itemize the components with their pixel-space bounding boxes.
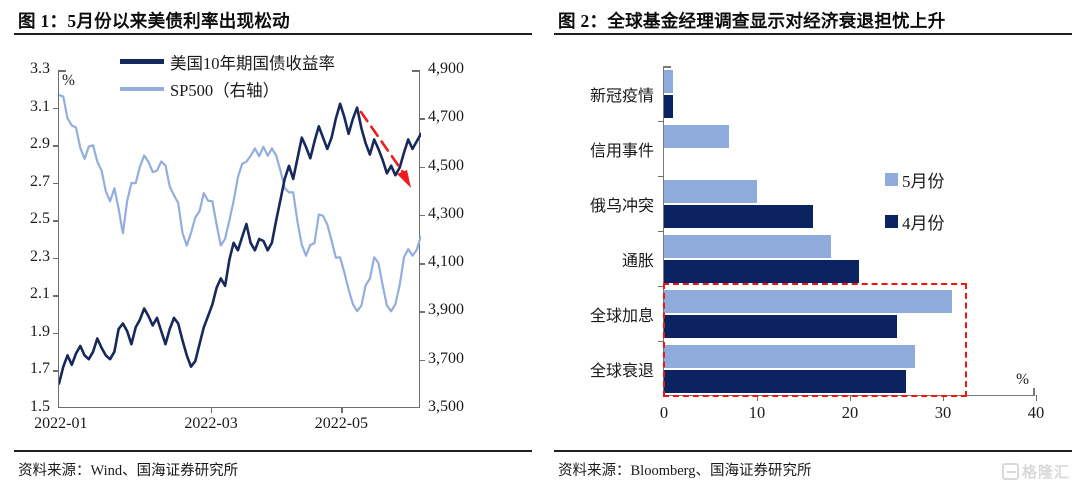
bar-may — [664, 180, 757, 203]
bar-april — [664, 315, 897, 338]
left-axis-tick — [53, 145, 59, 146]
left-axis-tick — [53, 295, 59, 296]
right-axis-tick-label: 4,500 — [428, 157, 464, 175]
bar-april — [664, 205, 813, 228]
bar-april — [664, 260, 859, 283]
figure-2-source-rule — [554, 450, 1072, 452]
bar-x-axis-tick — [757, 395, 758, 401]
figure-1-panel: 图 1：5月份以来美债利率出现松动 美国10年期国债收益率 SP500（右轴） … — [0, 0, 540, 490]
right-axis-tick-label: 4,100 — [428, 253, 464, 271]
figure-2-panel: 图 2：全球基金经理调查显示对经济衰退担忧上升 % 新冠疫情信用事件俄乌冲突通胀… — [540, 0, 1080, 490]
bar-x-axis-tick-label: 0 — [660, 403, 668, 423]
right-axis-tick — [419, 263, 425, 264]
legend-label-may: 5月份 — [902, 167, 945, 192]
right-axis-tick — [419, 118, 425, 119]
figure-2-source: 资料来源：Bloomberg、国海证券研究所 — [558, 459, 811, 480]
bar-group: 新冠疫情 — [664, 66, 1035, 121]
figure-2-title: 图 2：全球基金经理调查显示对经济衰退担忧上升 — [558, 8, 1070, 33]
figure-1-source-rule — [14, 450, 532, 452]
sp500-line — [59, 95, 421, 311]
left-axis-tick-label: 3.3 — [30, 60, 50, 78]
bar-may — [664, 345, 915, 368]
bar-may — [664, 70, 673, 93]
figure-2-title-rule — [554, 33, 1072, 35]
bar-chart: % 新冠疫情信用事件俄乌冲突通胀全球加息全球衰退010203040 5月份 4月… — [540, 40, 1080, 440]
bar-x-axis-tick-label: 20 — [842, 403, 859, 423]
left-axis-tick-label: 1.5 — [30, 398, 50, 416]
bar-category-label: 通胀 — [622, 247, 654, 271]
bar-x-axis-tick — [850, 395, 851, 401]
left-axis-tick — [53, 183, 59, 184]
x-axis-tick-label: 2022-03 — [184, 415, 237, 433]
bar-april — [664, 370, 906, 393]
bar-category-tick — [658, 341, 664, 342]
right-axis-tick-label: 4,900 — [428, 60, 464, 78]
bar-group: 全球加息 — [664, 286, 1035, 341]
right-axis-tick-label: 4,300 — [428, 205, 464, 223]
watermark-logo-icon — [1002, 463, 1019, 480]
right-axis-tick-label: 3,500 — [428, 398, 464, 416]
bar-may — [664, 235, 831, 258]
bar-x-axis-tick-label: 10 — [749, 403, 766, 423]
treasury-yield-line — [59, 104, 421, 384]
bar-may — [664, 290, 952, 313]
figure-page: 图 1：5月份以来美债利率出现松动 美国10年期国债收益率 SP500（右轴） … — [0, 0, 1080, 490]
bar-x-axis-tick-label: 40 — [1028, 403, 1045, 423]
right-axis-tick-label: 3,900 — [428, 301, 464, 319]
left-axis-tick — [53, 258, 59, 259]
legend-swatch-may-icon — [885, 173, 898, 186]
left-axis-tick — [53, 220, 59, 221]
legend-line-treasury-icon — [120, 59, 164, 64]
line-chart-svg — [59, 70, 421, 408]
bar-category-tick — [658, 176, 664, 177]
bar-x-axis-tick-label: 30 — [935, 403, 952, 423]
x-axis-tick — [211, 407, 212, 413]
bar-may — [664, 125, 729, 148]
right-axis-tick-label: 3,700 — [428, 350, 464, 368]
bar-group: 俄乌冲突 — [664, 176, 1035, 231]
left-axis-tick-label: 3.1 — [30, 98, 50, 116]
bar-category-label: 全球衰退 — [590, 357, 654, 381]
watermark: 格隆汇 — [1002, 461, 1070, 482]
left-axis-tick — [53, 108, 59, 109]
bar-category-tick — [658, 231, 664, 232]
bar-group: 信用事件 — [664, 121, 1035, 176]
figure-1-title: 图 1：5月份以来美债利率出现松动 — [18, 8, 530, 33]
right-axis-tick — [419, 215, 425, 216]
figure-1-source: 资料来源：Wind、国海证券研究所 — [18, 459, 238, 480]
legend-swatch-april-icon — [885, 215, 898, 228]
bar-chart-legend: 5月份 4月份 — [885, 158, 945, 242]
left-axis-tick-label: 1.9 — [30, 323, 50, 341]
bar-category-tick — [658, 286, 664, 287]
left-axis-tick — [53, 370, 59, 371]
bar-category-label: 信用事件 — [590, 137, 654, 161]
right-axis-tick — [419, 360, 425, 361]
bar-category-label: 全球加息 — [590, 302, 654, 326]
legend-item-may: 5月份 — [885, 158, 945, 200]
bar-category-tick — [658, 121, 664, 122]
x-axis-tick-label: 2022-01 — [34, 415, 87, 433]
left-axis-tick-label: 2.5 — [30, 210, 50, 228]
plot-top-left-cap — [59, 70, 66, 72]
left-axis-tick-label: 1.7 — [30, 360, 50, 378]
line-chart-plot-area: 3.33.12.92.72.52.32.11.91.71.54,9004,700… — [58, 70, 420, 408]
watermark-text: 格隆汇 — [1022, 461, 1070, 482]
bar-category-label: 新冠疫情 — [590, 82, 654, 106]
bar-april — [664, 95, 673, 118]
legend-item-april: 4月份 — [885, 200, 945, 242]
right-axis-tick — [419, 311, 425, 312]
bar-x-axis-tick — [943, 395, 944, 401]
bar-group: 通胀 — [664, 231, 1035, 286]
legend-label-april: 4月份 — [902, 209, 945, 234]
x-axis-tick-label: 2022-05 — [315, 415, 368, 433]
left-axis-tick-label: 2.9 — [30, 135, 50, 153]
plot-top-right-cap — [412, 70, 419, 72]
right-axis-tick-label: 4,700 — [428, 108, 464, 126]
left-axis-tick-label: 2.3 — [30, 248, 50, 266]
bar-chart-plot-area: % 新冠疫情信用事件俄乌冲突通胀全球加息全球衰退010203040 — [663, 66, 1035, 396]
right-axis-tick — [419, 167, 425, 168]
left-axis-tick — [53, 333, 59, 334]
left-axis-tick-label: 2.7 — [30, 173, 50, 191]
x-axis-tick — [341, 407, 342, 413]
bar-group: 全球衰退 — [664, 341, 1035, 396]
bar-x-axis-tick — [1036, 395, 1037, 401]
bar-category-label: 俄乌冲突 — [590, 192, 654, 216]
line-chart: 美国10年期国债收益率 SP500（右轴） % — [0, 40, 540, 440]
left-axis-tick-label: 2.1 — [30, 285, 50, 303]
figure-1-title-rule — [14, 33, 532, 35]
